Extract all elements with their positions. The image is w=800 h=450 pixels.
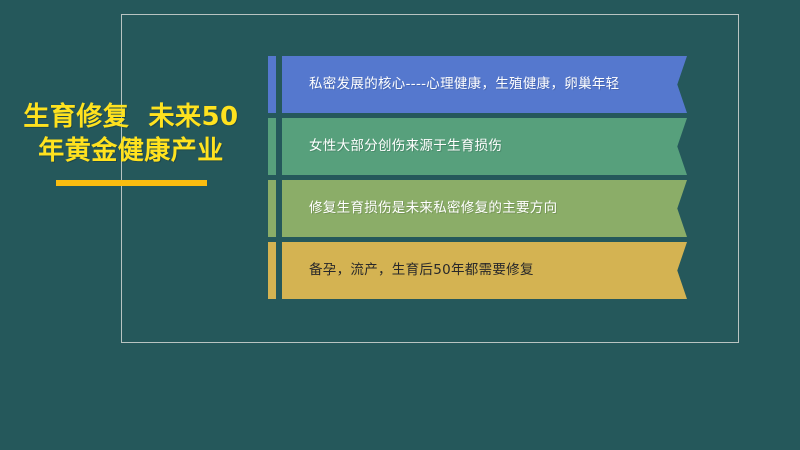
banner-label: 女性大部分创伤来源于生育损伤 xyxy=(282,138,542,155)
banner-list: 私密发展的核心----心理健康，生殖健康，卵巢年轻 女性大部分创伤来源于生育损伤… xyxy=(268,56,692,304)
banner-label: 私密发展的核心----心理健康，生殖健康，卵巢年轻 xyxy=(282,76,660,93)
banner-arrow-shape[interactable]: 备孕，流产，生育后50年都需要修复 xyxy=(282,242,687,299)
banner-accent-tab xyxy=(268,118,276,175)
banner-arrow-shape[interactable]: 私密发展的核心----心理健康，生殖健康，卵巢年轻 xyxy=(282,56,687,113)
list-item[interactable]: 修复生育损伤是未来私密修复的主要方向 xyxy=(268,180,692,237)
banner-arrow-shape[interactable]: 修复生育损伤是未来私密修复的主要方向 xyxy=(282,180,687,237)
slide-title-block: 生育修复 未来50年黄金健康产业 xyxy=(18,100,244,186)
banner-accent-tab xyxy=(268,56,276,113)
title-underline-rule xyxy=(56,180,207,186)
banner-accent-tab xyxy=(268,242,276,299)
banner-arrow-shape[interactable]: 女性大部分创伤来源于生育损伤 xyxy=(282,118,687,175)
list-item[interactable]: 备孕，流产，生育后50年都需要修复 xyxy=(268,242,692,299)
presentation-slide: 生育修复 未来50年黄金健康产业 私密发展的核心----心理健康，生殖健康，卵巢… xyxy=(0,0,800,450)
list-item[interactable]: 私密发展的核心----心理健康，生殖健康，卵巢年轻 xyxy=(268,56,692,113)
banner-label: 修复生育损伤是未来私密修复的主要方向 xyxy=(282,200,597,217)
list-item[interactable]: 女性大部分创伤来源于生育损伤 xyxy=(268,118,692,175)
banner-accent-tab xyxy=(268,180,276,237)
banner-label: 备孕，流产，生育后50年都需要修复 xyxy=(282,262,574,279)
page-title: 生育修复 未来50年黄金健康产业 xyxy=(18,100,244,169)
